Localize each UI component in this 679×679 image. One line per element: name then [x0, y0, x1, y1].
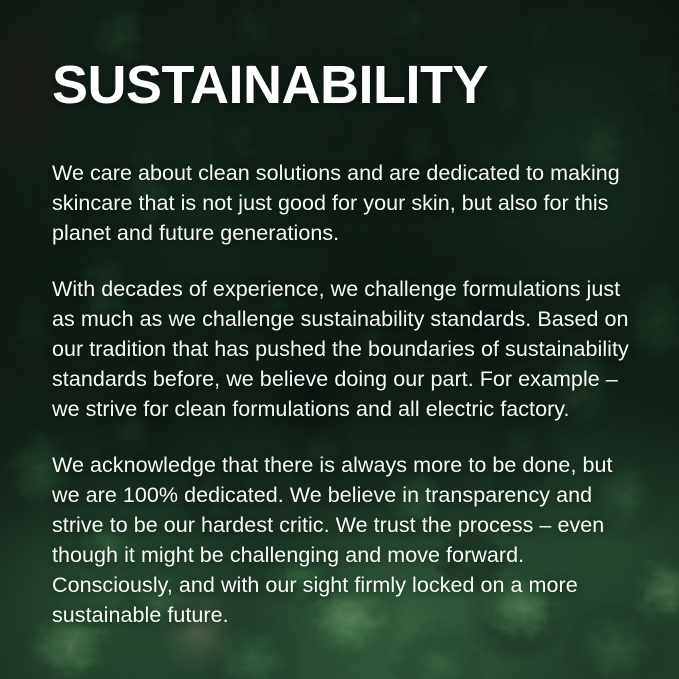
paragraph-acknowledgement: We acknowledge that there is always more…: [52, 450, 644, 630]
paragraph-intro: We care about clean solutions and are de…: [52, 158, 644, 248]
content-container: SUSTAINABILITY We care about clean solut…: [52, 0, 652, 679]
sustainability-page: SUSTAINABILITY We care about clean solut…: [0, 0, 679, 679]
page-title: SUSTAINABILITY: [52, 58, 488, 112]
paragraph-experience: With decades of experience, we challenge…: [52, 274, 644, 424]
body-copy: We care about clean solutions and are de…: [52, 158, 644, 630]
